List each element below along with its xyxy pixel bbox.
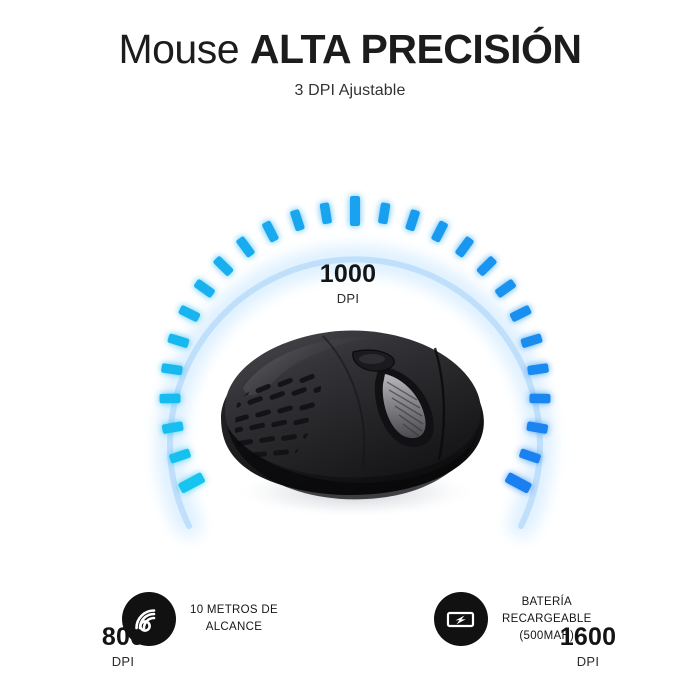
title-light-part: Mouse — [118, 26, 249, 72]
arc-tick — [504, 472, 532, 494]
arc-tick — [235, 236, 255, 259]
product-infographic: Mouse ALTA PRECISIÓN 3 DPI Ajustable — [0, 0, 700, 700]
arc-tick — [405, 209, 421, 232]
battery-charging-icon — [444, 602, 478, 636]
page-title: Mouse ALTA PRECISIÓN — [0, 26, 700, 72]
arc-tick — [159, 394, 180, 404]
dpi-top-value: 1000 — [288, 262, 408, 287]
feature-range-line-2: ALCANCE — [190, 619, 278, 636]
arc-tick — [378, 202, 391, 224]
arc-tick — [261, 220, 279, 243]
feature-battery-line-3: (500MAH) — [502, 628, 592, 645]
feature-battery-line-1: BATERÍA — [502, 594, 592, 611]
arc-tick — [212, 255, 234, 277]
wireless-signal-icon — [132, 602, 166, 636]
arc-tick — [350, 196, 360, 226]
mouse-product-image — [203, 296, 503, 526]
feature-battery-line-2: RECARGEABLE — [502, 611, 592, 628]
wireless-signal-icon-badge — [122, 592, 176, 646]
header: Mouse ALTA PRECISIÓN 3 DPI Ajustable — [0, 26, 700, 100]
title-bold-part: ALTA PRECISIÓN — [250, 26, 582, 72]
arc-tick — [476, 255, 498, 277]
arc-tick — [319, 202, 332, 224]
feature-battery: BATERÍA RECARGEABLE (500MAH) — [434, 592, 592, 646]
page-subtitle: 3 DPI Ajustable — [0, 82, 700, 100]
arc-tick — [520, 333, 543, 348]
feature-range-text: 10 METROS DE ALCANCE — [190, 602, 278, 636]
arc-tick — [454, 236, 474, 259]
feature-range-line-1: 10 METROS DE — [190, 602, 278, 619]
arc-tick — [178, 305, 201, 323]
arc-tick — [290, 209, 306, 232]
battery-charging-icon-badge — [434, 592, 488, 646]
arc-tick — [178, 472, 206, 494]
mouse-dpi-button-face — [359, 354, 385, 364]
feature-battery-text: BATERÍA RECARGEABLE (500MAH) — [502, 594, 592, 645]
feature-list: 10 METROS DE ALCANCE BATERÍA RECARGEABLE… — [0, 592, 700, 682]
arc-tick — [529, 394, 550, 404]
feature-range: 10 METROS DE ALCANCE — [122, 592, 278, 646]
arc-tick — [509, 305, 532, 323]
arc-tick — [167, 333, 190, 348]
arc-tick — [431, 220, 449, 243]
